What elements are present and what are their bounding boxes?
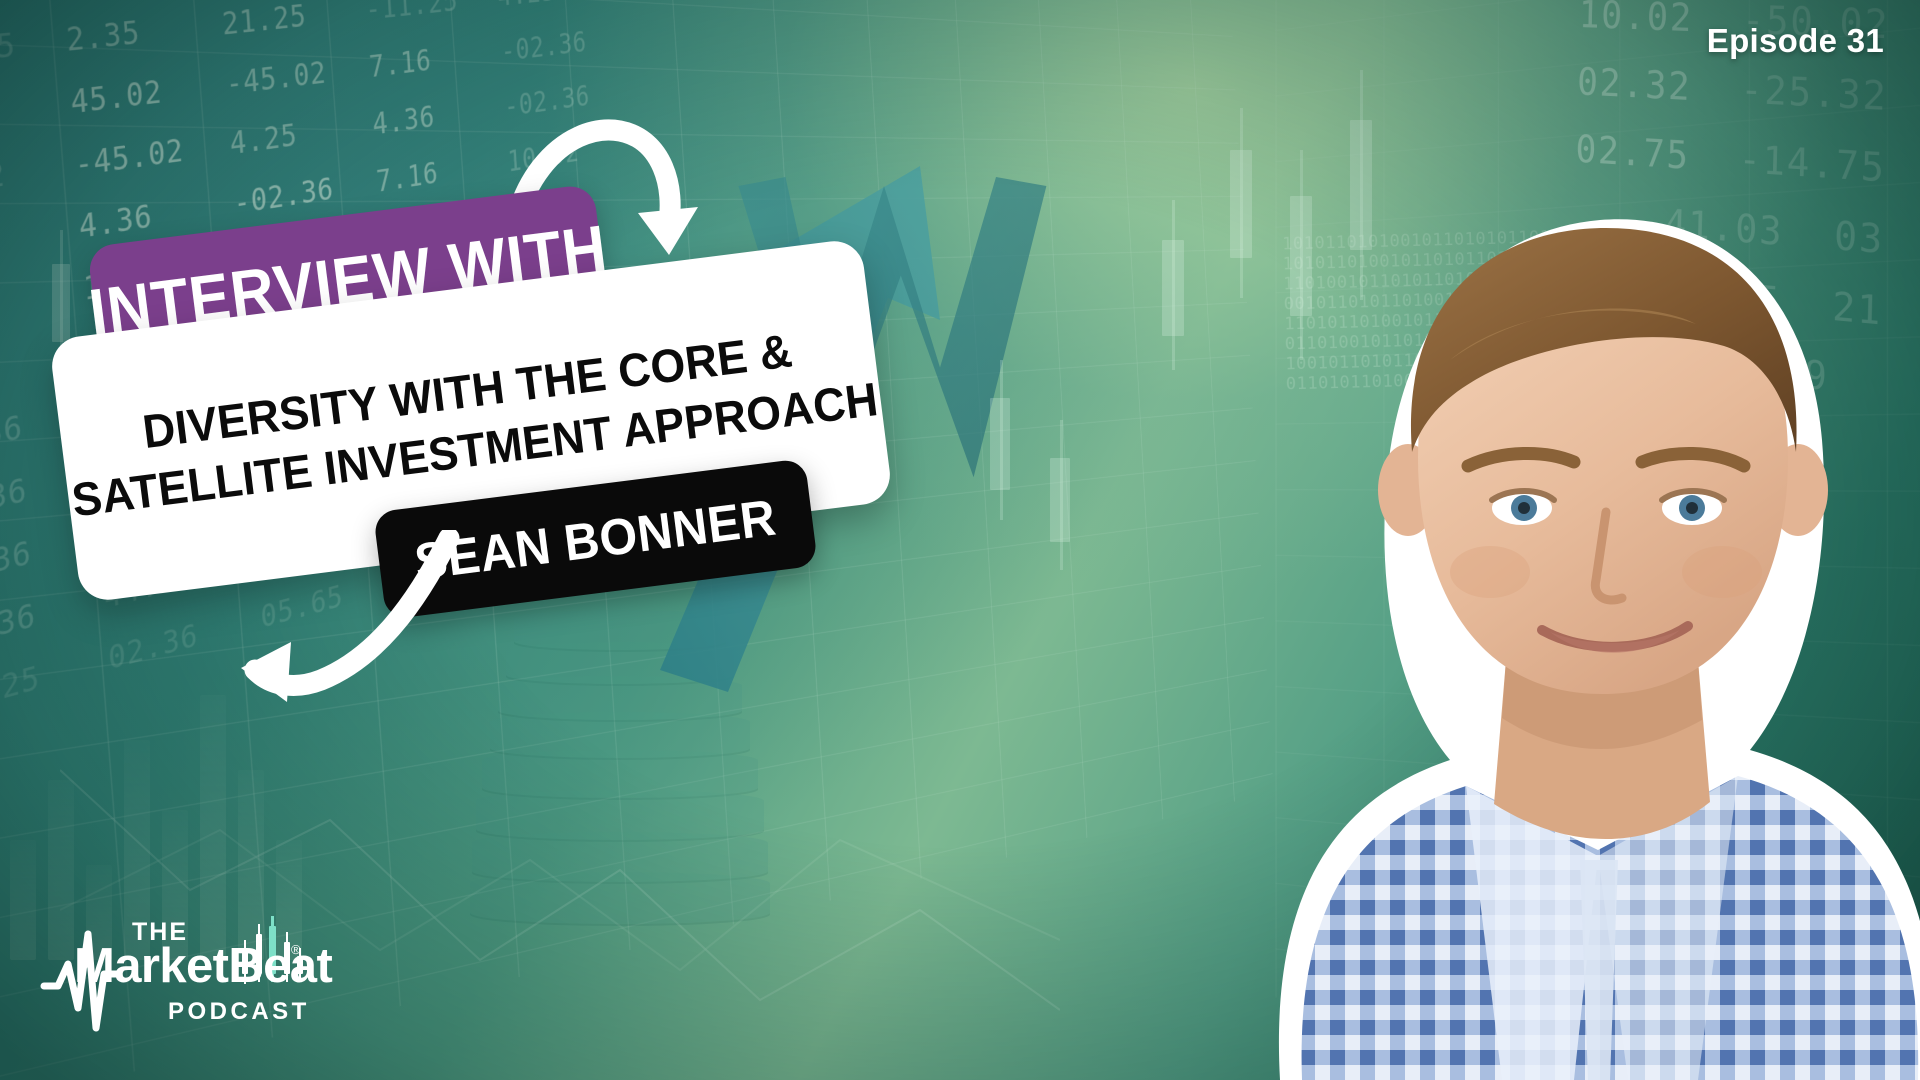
ticker-value: 45.02 bbox=[69, 72, 180, 122]
ticker-value: 22.36 bbox=[0, 405, 42, 467]
ticker-value: 4.25 bbox=[229, 113, 331, 162]
ticker-value: 4.25 bbox=[0, 216, 29, 273]
logo-registered-mark: ® bbox=[291, 942, 301, 957]
ticker-value: 10.02 bbox=[1578, 0, 1693, 41]
ticker-value: 59.36 bbox=[0, 467, 47, 531]
ticker-value: 7.16 bbox=[0, 279, 34, 338]
ticker-value: 4.36 bbox=[372, 96, 466, 143]
ticker-value: -02.36 bbox=[233, 171, 334, 222]
ticker-value: 45.02 bbox=[0, 153, 25, 208]
ticker-value: -45.02 bbox=[74, 132, 185, 184]
guest-photo bbox=[1150, 60, 1920, 1080]
curved-arrow-bottom-icon bbox=[225, 530, 475, 730]
ticker-value: 4.25 bbox=[497, 0, 584, 13]
episode-label: Episode 31 bbox=[1707, 22, 1884, 60]
ticker-value: 1.25 bbox=[0, 90, 21, 143]
ticker-value: 15.36 bbox=[0, 592, 55, 660]
ticker-value: 03.36 bbox=[0, 530, 51, 596]
ticker-value: 44.25 bbox=[0, 654, 59, 723]
ticker-value: -45.02 bbox=[225, 55, 327, 103]
ticker-value: 7.16 bbox=[375, 152, 469, 200]
ticker-value: 2.36 bbox=[0, 0, 12, 12]
podcast-thumbnail: 2.361.25 -11.252.3521.25-11.254.25 1.254… bbox=[0, 0, 1920, 1080]
logo-podcast-label: PODCAST bbox=[168, 998, 310, 1026]
ticker-value: -11.25 bbox=[364, 0, 458, 28]
ticker-value: -11.25 bbox=[0, 26, 16, 77]
ticker-value: 8.14 bbox=[0, 342, 38, 402]
ticker-value: 21.25 bbox=[221, 0, 323, 43]
ticker-value: -02.36 bbox=[500, 26, 587, 69]
ticker-value: 02.36 bbox=[107, 613, 216, 678]
ticker-value: 7.16 bbox=[368, 40, 462, 85]
ticker-value: 2.35 bbox=[65, 11, 176, 59]
marketbeat-podcast-logo: THE MarketBeat ® PODCAST bbox=[38, 912, 338, 1042]
